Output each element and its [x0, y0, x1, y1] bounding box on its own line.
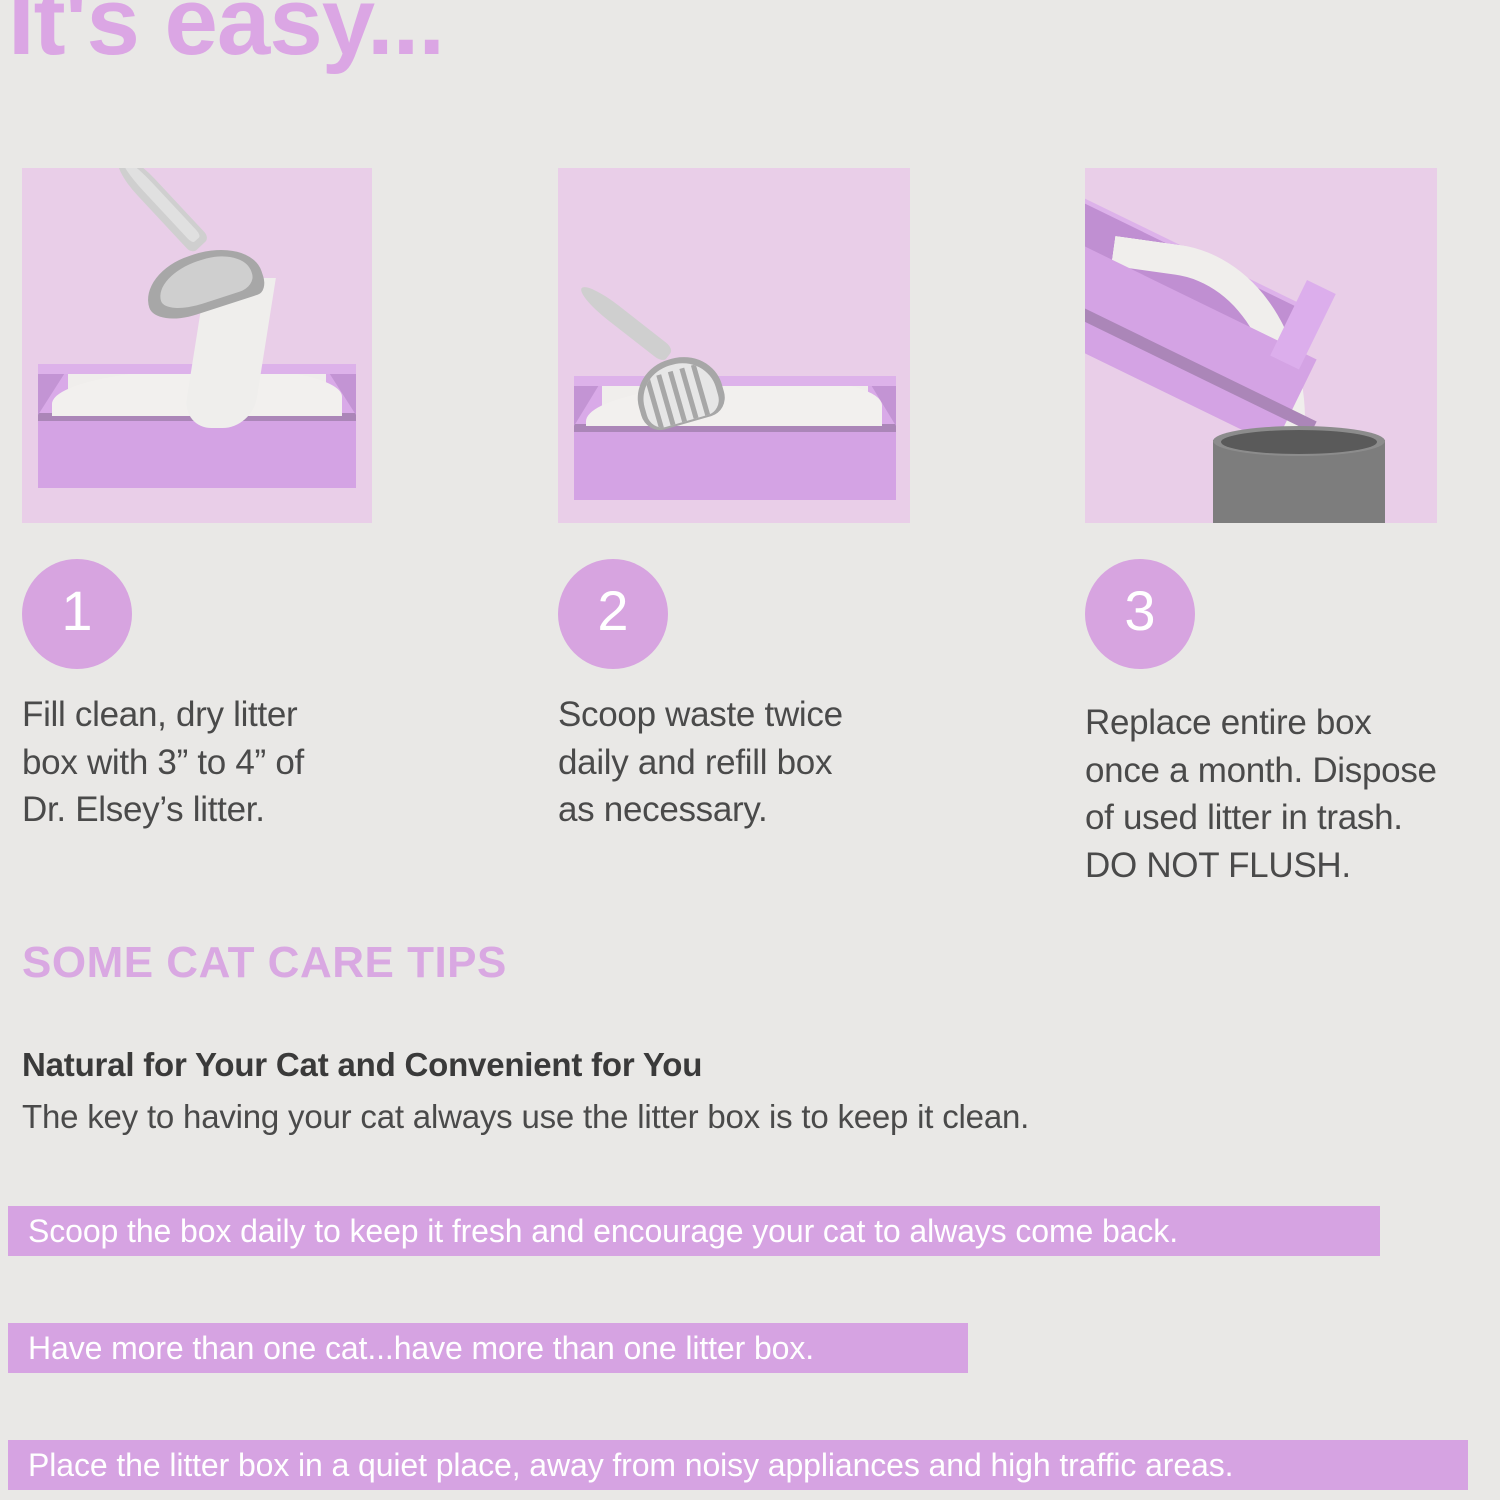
step-3-text: Replace entire box once a month. Dispose… — [1085, 699, 1485, 889]
step-2-illustration-panel — [558, 168, 910, 523]
step-2-number: 2 — [597, 583, 628, 639]
litter-bag-pouring-into-box-icon — [22, 168, 372, 523]
step-2-text: Scoop waste twice daily and refill box a… — [558, 691, 958, 834]
step-1: 1 Fill clean, dry litter box with 3” to … — [22, 168, 422, 834]
litter-box-front-shape — [38, 418, 356, 488]
step-1-illustration-panel — [22, 168, 372, 523]
trash-can-opening-shape — [1221, 430, 1377, 454]
litter-box-inner-right-wall-shape — [868, 380, 896, 426]
step-2: 2 Scoop waste twice daily and refill box… — [558, 168, 958, 834]
step-1-number: 1 — [61, 583, 92, 639]
litter-box-inner-right-wall-shape — [326, 368, 356, 415]
page-title: It's easy... — [8, 0, 444, 70]
box-emptying-into-trash-can-icon — [1085, 168, 1437, 523]
steps-row: 1 Fill clean, dry litter box with 3” to … — [0, 168, 1500, 888]
tips-section-heading: SOME CAT CARE TIPS — [22, 938, 507, 988]
step-3: 3 Replace entire box once a month. Dispo… — [1085, 168, 1485, 889]
litter-box-top-rim-shape — [574, 376, 896, 386]
step-1-number-badge: 1 — [22, 559, 132, 669]
litter-box-inner-left-wall-shape — [38, 368, 68, 415]
step-3-number: 3 — [1124, 583, 1155, 639]
tip-bar-2: Have more than one cat...have more than … — [8, 1323, 968, 1373]
tips-sub-body: The key to having your cat always use th… — [22, 1098, 1029, 1136]
tip-bar-1: Scoop the box daily to keep it fresh and… — [8, 1206, 1380, 1256]
step-3-illustration-panel — [1085, 168, 1437, 523]
litter-box-inner-left-wall-shape — [574, 380, 602, 426]
tip-bar-3: Place the litter box in a quiet place, a… — [8, 1440, 1468, 1490]
step-1-text: Fill clean, dry litter box with 3” to 4”… — [22, 691, 422, 834]
tips-sub-heading: Natural for Your Cat and Convenient for … — [22, 1046, 702, 1084]
step-2-number-badge: 2 — [558, 559, 668, 669]
step-3-number-badge: 3 — [1085, 559, 1195, 669]
litter-box-front-shape — [574, 430, 896, 500]
scoop-handle-shape — [576, 281, 674, 363]
scoop-in-litter-box-icon — [558, 168, 910, 523]
